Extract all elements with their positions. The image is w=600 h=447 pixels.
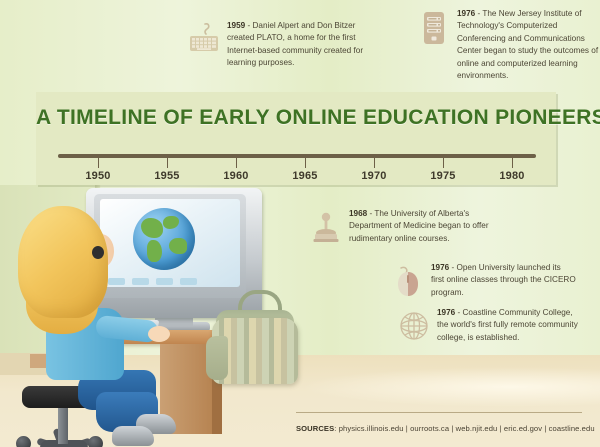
fact-year-njit-1976: 1976 (457, 9, 475, 18)
timeline-axis-line (58, 154, 536, 158)
sources-divider (296, 412, 582, 413)
fact-text-coastline-1976: 1976 - Coastline Community College, the … (437, 307, 582, 344)
fact-block-open-university-1976: 1976 - Open University launched its firs… (392, 262, 576, 302)
sources-line: SOURCES: physics.illinois.edu | ourroots… (296, 424, 586, 433)
girl-shoe (112, 426, 154, 446)
chair-wheel (16, 436, 31, 447)
fact-text-open-university-1976: 1976 - Open University launched its firs… (431, 262, 576, 299)
girl-hand (148, 326, 170, 342)
fact-year-coastline-1976: 1976 (437, 308, 455, 317)
timeline-tick (443, 154, 444, 168)
fact-text-plato-1959: 1959 - Daniel Alpert and Don Bitzer crea… (227, 20, 377, 70)
computer-mouse-icon (392, 262, 424, 302)
fact-year-plato-1959: 1959 (227, 21, 245, 30)
timeline-tick (374, 154, 375, 168)
timeline-tick (305, 154, 306, 168)
fact-text-njit-1976: 1976 - The New Jersey Institute of Techn… (457, 8, 600, 83)
timeline-tick (236, 154, 237, 168)
timeline-tick (512, 154, 513, 168)
girl-headphone-earpiece (92, 246, 104, 259)
girl-hair (18, 206, 108, 318)
wireframe-globe-icon (398, 307, 430, 347)
keyboard-icon (188, 20, 220, 60)
fact-year-open-university-1976: 1976 (431, 263, 449, 272)
timeline-tick (167, 154, 168, 168)
timeline-year-label: 1975 (430, 170, 455, 182)
infographic-canvas: 1959 - Daniel Alpert and Don Bitzer crea… (0, 0, 600, 447)
chair-wheel (88, 436, 103, 447)
fact-block-alberta-1968: 1968 - The University of Alberta's Depar… (310, 208, 494, 248)
duffel-bag-side-pocket (206, 336, 228, 380)
floor-highlight (300, 367, 600, 407)
sources-list: physics.illinois.edu | ourroots.ca | web… (339, 424, 595, 433)
fact-year-alberta-1968: 1968 (349, 209, 367, 218)
timeline-year-label: 1980 (499, 170, 524, 182)
fact-block-njit-1976: 1976 - The New Jersey Institute of Techn… (418, 8, 600, 83)
screen-taskbar-dots (108, 278, 228, 285)
fact-dash: - (245, 21, 252, 30)
page-title: A TIMELINE OF EARLY ONLINE EDUCATION PIO… (36, 106, 556, 130)
fact-block-coastline-1976: 1976 - Coastline Community College, the … (398, 307, 582, 347)
fact-dash: - (455, 308, 462, 317)
fact-body-njit-1976: The New Jersey Institute of Technology's… (457, 9, 598, 80)
sources-label: SOURCES (296, 424, 334, 433)
globe-on-screen (133, 208, 195, 270)
timeline-tick (98, 154, 99, 168)
server-tower-icon (418, 8, 450, 48)
fact-block-plato-1959: 1959 - Daniel Alpert and Don Bitzer crea… (188, 20, 377, 70)
timeline-band: A TIMELINE OF EARLY ONLINE EDUCATION PIO… (36, 92, 556, 185)
timeline-year-label: 1970 (361, 170, 386, 182)
fact-text-alberta-1968: 1968 - The University of Alberta's Depar… (349, 208, 494, 245)
fact-dash: - (449, 263, 456, 272)
joystick-icon (310, 208, 342, 248)
chair-gas-cylinder (58, 406, 68, 444)
girl-at-computer-illustration (0, 178, 305, 410)
